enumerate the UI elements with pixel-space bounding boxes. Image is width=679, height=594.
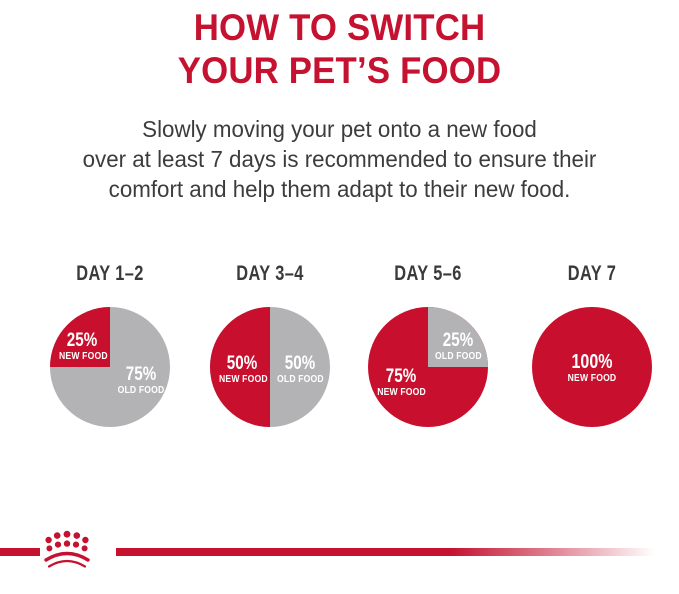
pie-svg-day-3-4 [210,307,330,427]
intro-paragraph: Slowly moving your pet onto a new food o… [0,114,679,204]
page-header: HOW TO SWITCH YOUR PET’S FOOD [0,0,679,92]
pie-chart-day-1-2: 25% NEW FOOD 75% OLD FOOD [50,307,170,427]
pie-slice-new-food [50,307,110,367]
pie-cell-day-5-6: DAY 5–6 25% OLD FOOD 75% NEW FOOD [348,262,508,437]
pie-slice-new-food [532,307,652,427]
pie-cell-day-3-4: DAY 3–4 50% NEW FOOD 50% OLD FOOD [190,262,350,437]
pie-chart-row: DAY 1–2 25% NEW FOOD 75% OLD FOOD DAY 3–… [0,262,679,437]
day-label-2: DAY 3–4 [208,262,333,286]
intro-line-2: over at least 7 days is recommended to e… [17,144,662,174]
pie-slice-new-food [210,307,270,427]
page-title-line-1: HOW TO SWITCH [20,6,658,49]
pie-slice-old-food [428,307,488,367]
footer-rule-right [116,548,655,556]
day-label-4: DAY 7 [530,262,655,286]
intro-line-1: Slowly moving your pet onto a new food [17,114,662,144]
royal-canin-crown-icon [42,530,92,570]
intro-line-3: comfort and help them adapt to their new… [17,174,662,204]
pie-cell-day-7: DAY 7 100% NEW FOOD [512,262,672,437]
day-label-3: DAY 5–6 [366,262,491,286]
pie-svg-day-7 [532,307,652,427]
pie-chart-day-5-6: 25% OLD FOOD 75% NEW FOOD [368,307,488,427]
pie-chart-day-7: 100% NEW FOOD [532,307,652,427]
day-label-1: DAY 1–2 [48,262,173,286]
page-title-line-2: YOUR PET’S FOOD [20,49,658,92]
footer-rule-left [0,548,40,556]
pie-svg-day-5-6 [368,307,488,427]
pie-chart-day-3-4: 50% NEW FOOD 50% OLD FOOD [210,307,330,427]
pie-svg-day-1-2 [50,307,170,427]
page-footer [0,530,679,594]
pie-cell-day-1-2: DAY 1–2 25% NEW FOOD 75% OLD FOOD [30,262,190,437]
